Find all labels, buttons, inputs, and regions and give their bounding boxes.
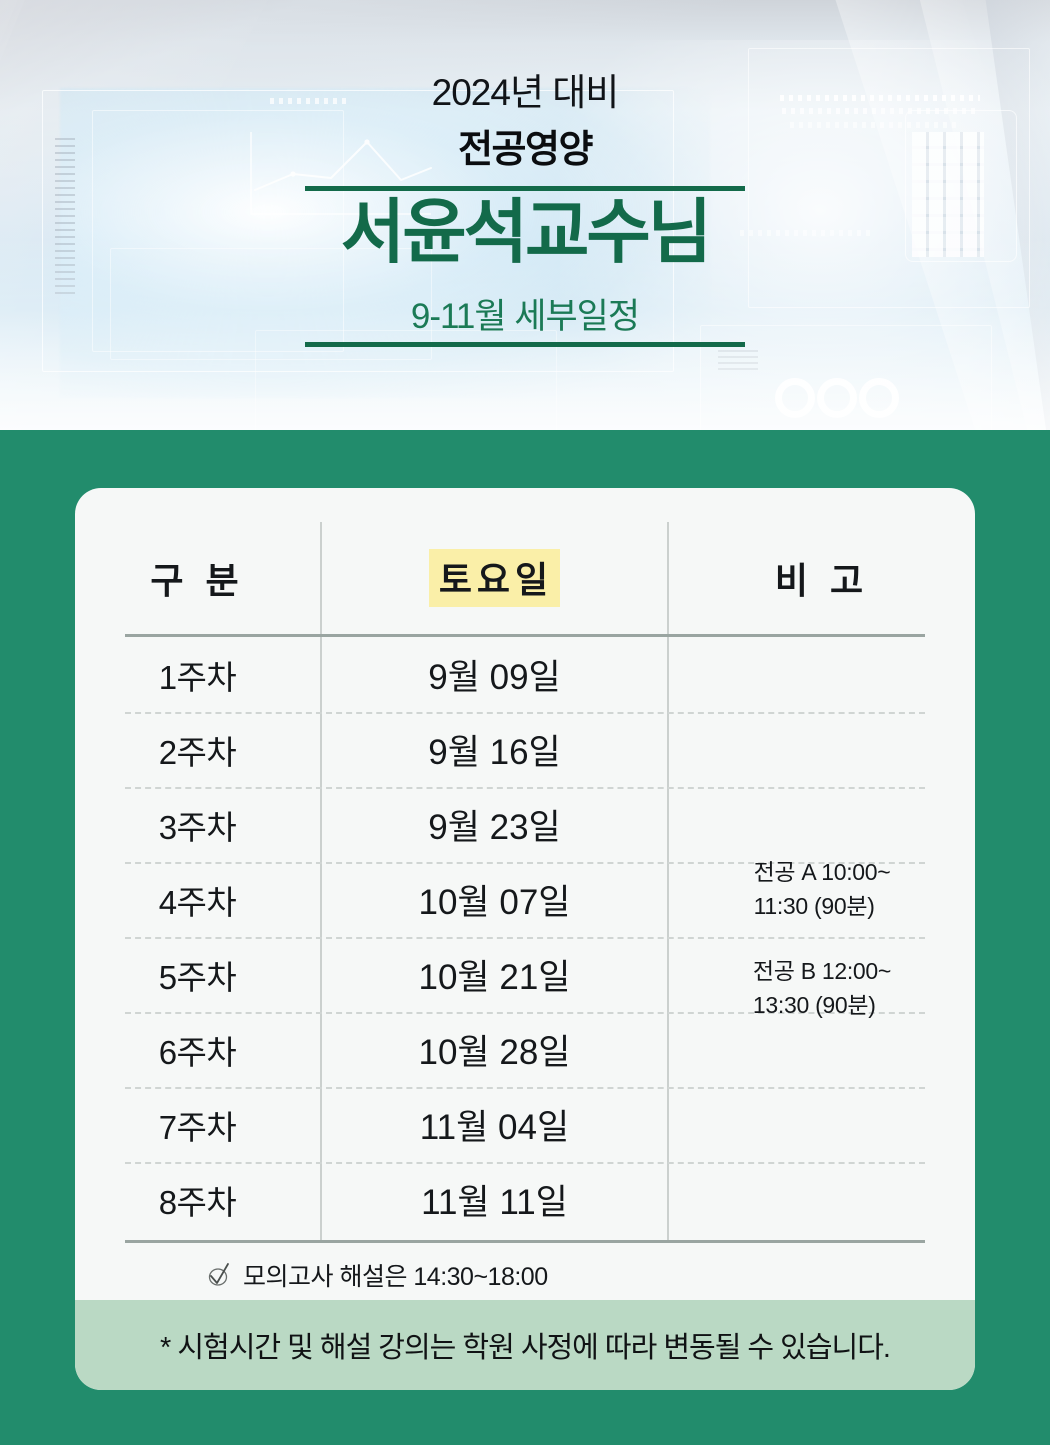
check-icon [203,1260,233,1290]
cell-date: 9월 09일 [322,637,667,712]
disclaimer-banner: * 시험시간 및 해설 강의는 학원 사정에 따라 변동될 수 있습니다. [75,1300,975,1390]
table-header-row: 구 분 토요일 비 고 [75,522,975,634]
remark-major-a: 전공 A 10:00~11:30 (90분) [754,855,891,924]
remark-major-b: 전공 B 12:00~13:30 (90분) [753,954,891,1023]
header-cell-note: 비 고 [669,522,975,634]
cell-week: 3주차 [75,787,320,862]
cell-remarks: 전공 A 10:00~11:30 (90분) 전공 B 12:00~13:30 … [669,637,975,1240]
cell-week: 8주차 [75,1162,320,1237]
cell-date: 9월 23일 [322,787,667,862]
table-bottom-rule [125,1240,925,1243]
hero-period: 9-11월 세부일정 [0,288,1050,339]
cell-week: 6주차 [75,1012,320,1087]
cell-week: 5주차 [75,937,320,1012]
cell-week: 1주차 [75,637,320,712]
cell-date: 10월 28일 [322,1012,667,1087]
footnote-text: 모의고사 해설은 14:30~18:00 [243,1257,548,1293]
hero-professor-name: 서윤석교수님 [0,196,1050,270]
hero-rule-top [305,186,745,191]
poster-root: 2024년 대비 전공영양 서윤석교수님 9-11월 세부일정 구 분 토요일 [0,0,1050,1445]
schedule-table: 구 분 토요일 비 고 1주차 9월 09일 2주차 9월 1 [75,488,975,1300]
header-cell-week: 구 분 [75,522,320,634]
schedule-card: 구 분 토요일 비 고 1주차 9월 09일 2주차 9월 1 [75,488,975,1390]
hero-kicker: 2024년 대비 [0,62,1050,116]
cell-date: 10월 07일 [322,862,667,937]
header-label-day: 토요일 [429,549,560,607]
hero-rule-bottom [305,342,745,347]
footnote-row: 모의고사 해설은 14:30~18:00 [75,1250,975,1300]
header-label-week: 구 분 [150,552,244,604]
cell-date: 10월 21일 [322,937,667,1012]
cell-week: 4주차 [75,862,320,937]
hero-text-group: 2024년 대비 전공영양 서윤석교수님 9-11월 세부일정 [0,0,1050,430]
cell-date: 11월 04일 [322,1087,667,1162]
cell-date: 11월 11일 [322,1162,667,1237]
hero-subject: 전공영양 [0,118,1050,173]
cell-week: 7주차 [75,1087,320,1162]
disclaimer-text: * 시험시간 및 해설 강의는 학원 사정에 따라 변동될 수 있습니다. [160,1324,890,1366]
header-label-note: 비 고 [775,552,869,604]
cell-date: 9월 16일 [322,712,667,787]
cell-week: 2주차 [75,712,320,787]
header-cell-day: 토요일 [322,522,667,634]
hero-banner: 2024년 대비 전공영양 서윤석교수님 9-11월 세부일정 [0,0,1050,430]
